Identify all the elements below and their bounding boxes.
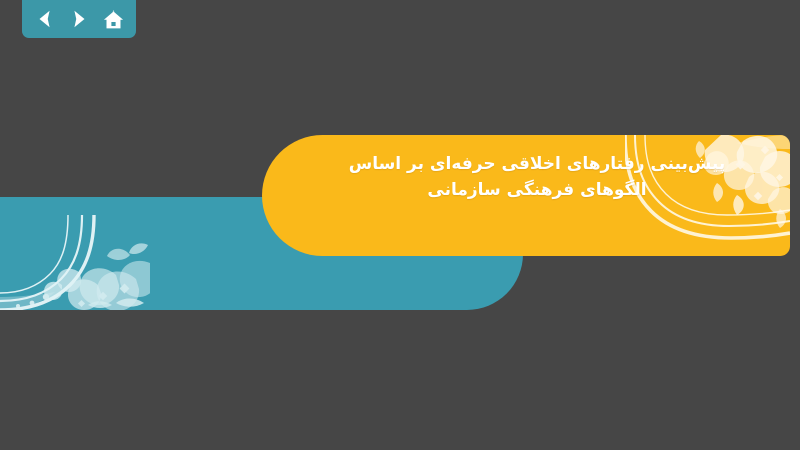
home-icon: [102, 8, 125, 31]
previous-slide-button[interactable]: [32, 6, 58, 32]
slide-canvas: پیش‌بینی رفتارهای اخلاقی حرفه‌ای بر اساس…: [0, 0, 800, 450]
navigation-bar: [22, 0, 136, 38]
home-button[interactable]: [100, 6, 126, 32]
triangle-left-icon: [34, 8, 56, 30]
title-line-2: الگوهای فرهنگی سازمانی: [314, 177, 760, 203]
page-title: پیش‌بینی رفتارهای اخلاقی حرفه‌ای بر اساس…: [262, 151, 790, 204]
next-slide-button[interactable]: [66, 6, 92, 32]
triangle-right-icon: [68, 8, 90, 30]
title-banner: پیش‌بینی رفتارهای اخلاقی حرفه‌ای بر اساس…: [262, 135, 790, 256]
title-line-1: پیش‌بینی رفتارهای اخلاقی حرفه‌ای بر اساس: [314, 151, 760, 177]
teal-band-arabesque-ornament-icon: [0, 215, 150, 310]
